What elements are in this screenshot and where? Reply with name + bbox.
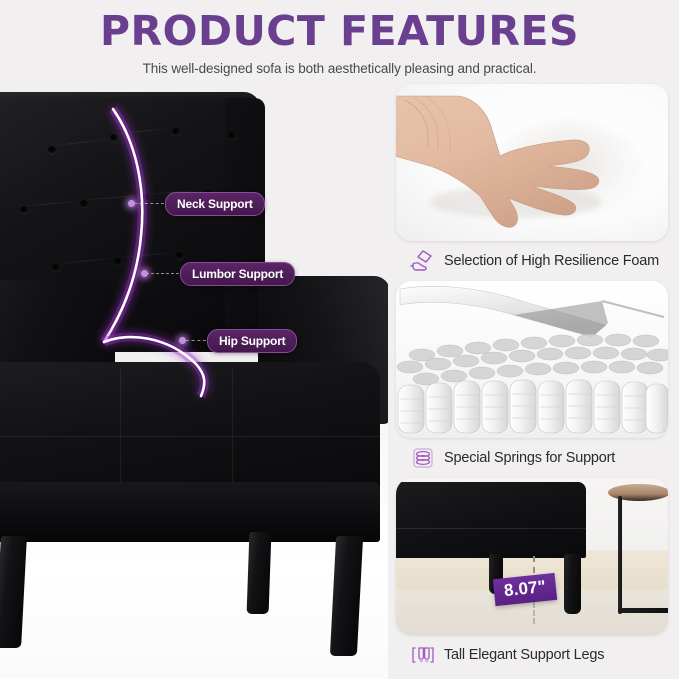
page-title: PRODUCT FEATURES xyxy=(0,0,679,54)
leader-line-neck xyxy=(134,203,164,204)
feature-image-legs: 8.07" xyxy=(396,478,668,635)
callout-neck-support: Neck Support xyxy=(165,192,265,216)
side-table-foot xyxy=(618,608,668,613)
sofa-base-body xyxy=(396,482,586,558)
spine-point-icon xyxy=(128,200,135,207)
spine-point-icon xyxy=(179,337,186,344)
page-subtitle: This well-designed sofa is both aestheti… xyxy=(0,54,679,78)
ergonomic-spine-curve xyxy=(0,84,388,679)
feature-list: Selection of High Resilience Foam xyxy=(396,84,679,679)
feature-label-springs: Special Springs for Support xyxy=(444,450,615,466)
springs-photo xyxy=(396,281,668,438)
sofa-base-seam xyxy=(396,528,586,529)
feature-item-foam: Selection of High Resilience Foam xyxy=(396,84,668,281)
dimension-line xyxy=(533,602,535,624)
feature-item-legs: 8.07" Tall Elegant Support Legs xyxy=(396,478,668,675)
sofa-legs-icon xyxy=(410,642,436,668)
legs-photo: 8.07" xyxy=(396,478,668,635)
spine-point-icon xyxy=(141,270,148,277)
feature-caption-legs: Tall Elegant Support Legs xyxy=(396,635,668,675)
pocket-coil-array-illustration xyxy=(396,281,668,438)
leader-line-lumbor xyxy=(146,273,179,274)
hero-sofa-image: Neck Support Lumbor Support Hip Support xyxy=(0,84,388,679)
header: PRODUCT FEATURES This well-designed sofa… xyxy=(0,0,679,84)
foam-photo xyxy=(396,84,668,241)
feature-label-foam: Selection of High Resilience Foam xyxy=(444,253,659,269)
coil-spring-icon xyxy=(410,445,436,471)
feature-item-springs: Special Springs for Support xyxy=(396,281,668,478)
leader-line-hip xyxy=(186,340,206,341)
feature-label-legs: Tall Elegant Support Legs xyxy=(444,647,604,663)
feature-caption-foam: Selection of High Resilience Foam xyxy=(396,241,668,281)
feature-caption-springs: Special Springs for Support xyxy=(396,438,668,478)
side-table-top xyxy=(608,484,668,501)
callout-hip-support: Hip Support xyxy=(207,329,297,353)
feature-image-foam xyxy=(396,84,668,241)
callout-lumbor-support: Lumbor Support xyxy=(180,262,295,286)
product-feature-infographic: PRODUCT FEATURES This well-designed sofa… xyxy=(0,0,679,679)
sofa-leg xyxy=(564,554,581,614)
feature-image-springs xyxy=(396,281,668,438)
hand-pressing-foam-illustration xyxy=(396,84,668,241)
side-table-stem xyxy=(618,496,622,614)
hand-pressing-foam-icon xyxy=(410,248,436,274)
